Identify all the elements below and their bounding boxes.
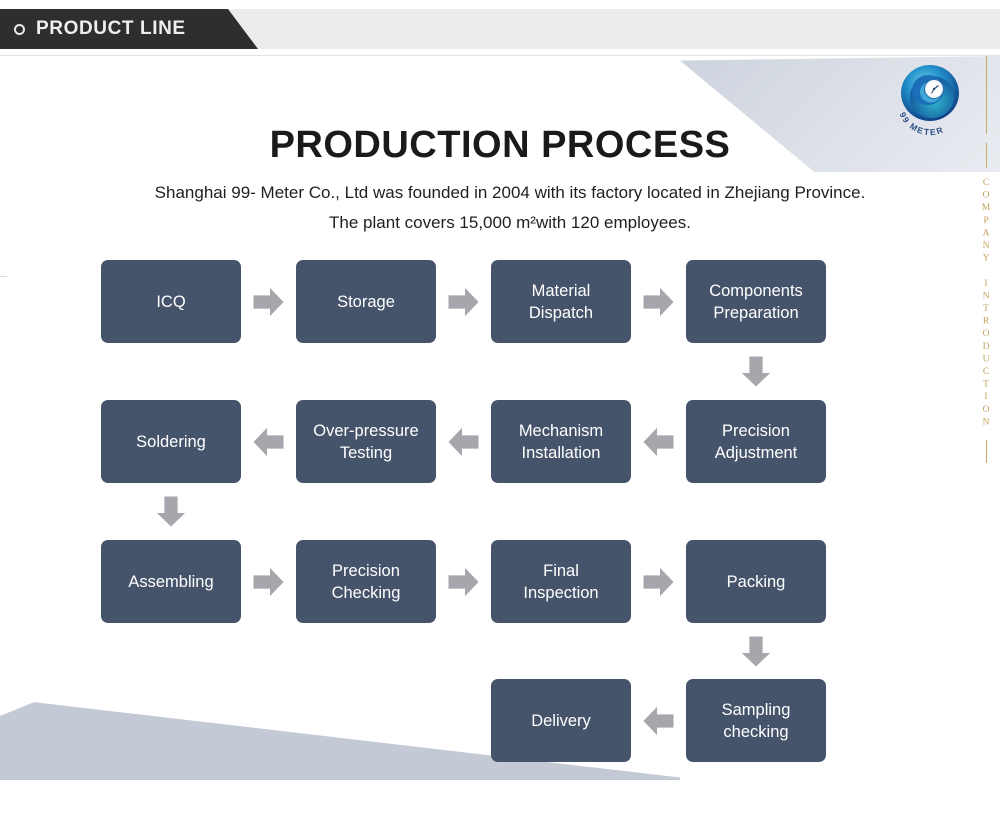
flow-node-soldering[interactable]: Soldering <box>101 400 241 483</box>
header-badge-label: PRODUCT LINE <box>36 18 186 40</box>
page-subtitle: Shanghai 99- Meter Co., Ltd was founded … <box>150 178 870 238</box>
flow-arrow-final-inspection-to-packing <box>642 567 675 597</box>
side-rail-label: COMPANY INTRODUCTION <box>981 178 991 430</box>
flow-arrow-material-dispatch-to-components-preparation <box>642 287 675 317</box>
flow-node-label: Samplingchecking <box>722 699 791 743</box>
flow-arrow-assembling-to-precision-checking <box>252 567 285 597</box>
flow-node-label: FinalInspection <box>523 560 598 604</box>
page-title: PRODUCTION PROCESS <box>0 124 1000 167</box>
rail-divider-top <box>986 56 987 134</box>
flow-node-label: MechanismInstallation <box>519 420 603 464</box>
flow-node-icq[interactable]: ICQ <box>101 260 241 343</box>
flow-arrow-storage-to-material-dispatch <box>447 287 480 317</box>
flow-arrow-packing-to-sampling-checking <box>741 635 771 668</box>
flow-node-packing[interactable]: Packing <box>686 540 826 623</box>
flow-node-mechanism-installation[interactable]: MechanismInstallation <box>491 400 631 483</box>
flow-node-final-inspection[interactable]: FinalInspection <box>491 540 631 623</box>
header-underline <box>0 55 1000 56</box>
ring-icon <box>14 24 25 35</box>
flow-node-label: Packing <box>727 571 786 593</box>
flow-node-assembling[interactable]: Assembling <box>101 540 241 623</box>
flow-node-label: Storage <box>337 291 395 313</box>
flow-node-over-pressure-testing[interactable]: Over-pressureTesting <box>296 400 436 483</box>
flow-node-label: ComponentsPreparation <box>709 280 803 324</box>
flow-arrow-precision-checking-to-final-inspection <box>447 567 480 597</box>
flow-node-delivery[interactable]: Delivery <box>491 679 631 762</box>
flow-node-components-preparation[interactable]: ComponentsPreparation <box>686 260 826 343</box>
flow-node-label: Soldering <box>136 431 206 453</box>
flow-node-material-dispatch[interactable]: MaterialDispatch <box>491 260 631 343</box>
decorative-tick-left <box>0 276 7 277</box>
flow-node-label: MaterialDispatch <box>529 280 593 324</box>
flow-arrow-components-preparation-to-precision-adjustment <box>741 355 771 388</box>
flow-node-label: Delivery <box>531 710 591 732</box>
flow-node-label: ICQ <box>156 291 185 313</box>
flow-node-precision-adjustment[interactable]: PrecisionAdjustment <box>686 400 826 483</box>
flow-arrow-soldering-to-assembling <box>156 495 186 528</box>
flow-node-label: PrecisionAdjustment <box>715 420 798 464</box>
flow-node-label: Assembling <box>128 571 213 593</box>
flow-arrow-over-pressure-testing-to-soldering <box>252 427 285 457</box>
flow-node-label: Over-pressureTesting <box>313 420 418 464</box>
side-rail: COMPANY INTRODUCTION <box>974 143 998 463</box>
flow-arrow-sampling-checking-to-delivery <box>642 706 675 736</box>
slide-canvas: PRODUCT LINE <box>0 0 1000 832</box>
rail-line-bottom <box>986 440 987 463</box>
flow-node-storage[interactable]: Storage <box>296 260 436 343</box>
flow-node-sampling-checking[interactable]: Samplingchecking <box>686 679 826 762</box>
header-badge: PRODUCT LINE <box>0 9 258 49</box>
flow-arrow-precision-adjustment-to-mechanism-installation <box>642 427 675 457</box>
flow-node-precision-checking[interactable]: PrecisionChecking <box>296 540 436 623</box>
flow-arrow-icq-to-storage <box>252 287 285 317</box>
flow-arrow-mechanism-installation-to-over-pressure-testing <box>447 427 480 457</box>
flow-node-label: PrecisionChecking <box>332 560 401 604</box>
